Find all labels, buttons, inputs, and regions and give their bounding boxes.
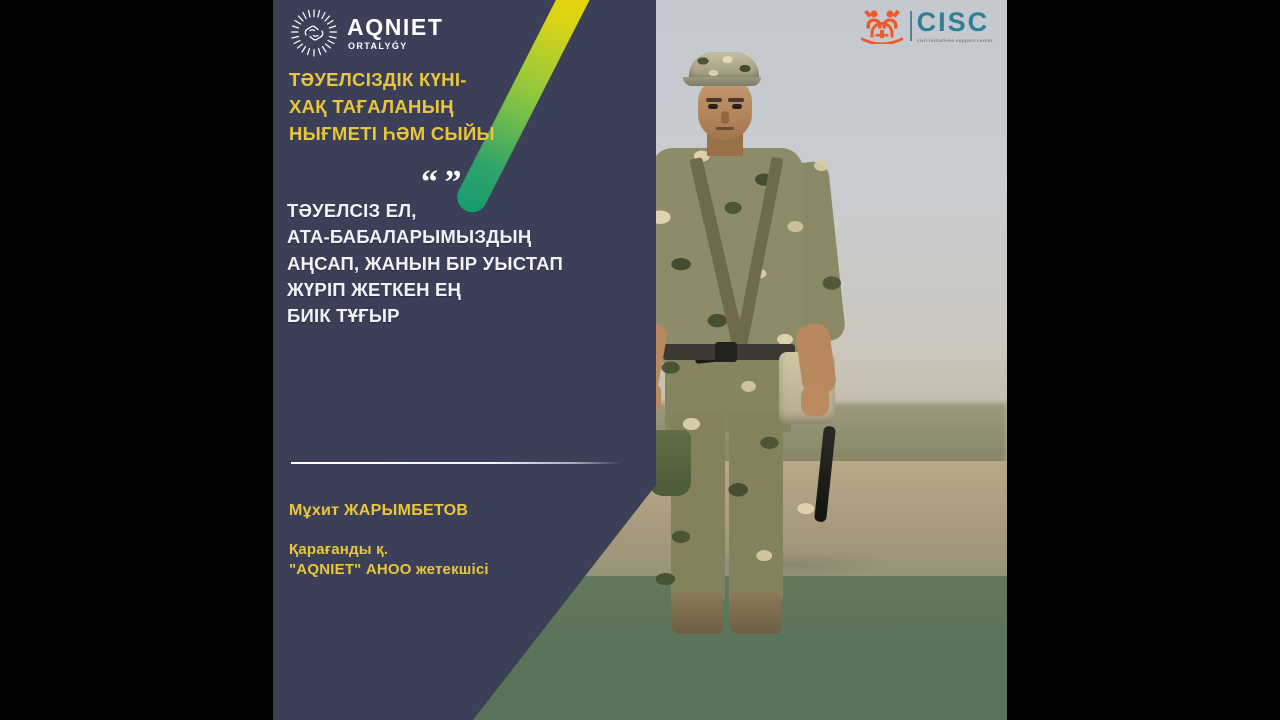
- cap-camouflage: [689, 52, 759, 82]
- mouth: [716, 127, 734, 130]
- slide-title: ТӘУЕЛСІЗДІК КҮНІ- ХАҚ ТАҒАЛАНЫҢ НЫҒМЕТІ …: [289, 66, 619, 148]
- partner-name: CISC: [917, 9, 993, 36]
- cisc-logo: CISC civil initiatives support center: [859, 8, 993, 44]
- aqniet-logo-text: AQNIET ORTALYǴY: [347, 16, 444, 51]
- quote-line-3: АҢСАП, ЖАНЫН БІР УЫСТАП: [287, 251, 647, 277]
- quote-text: ТӘУЕЛСІЗ ЕЛ, АТА-БАБАЛАРЫМЫЗДЫҢ АҢСАП, Ж…: [287, 198, 647, 329]
- soldier-torso: [651, 148, 803, 363]
- quote-line-1: ТӘУЕЛСІЗ ЕЛ,: [287, 198, 647, 224]
- horizontal-divider: [291, 462, 621, 464]
- quote-line-4: ЖҮРІП ЖЕТКЕН ЕҢ: [287, 277, 647, 303]
- baton: [814, 426, 836, 523]
- eye: [732, 104, 742, 109]
- quote-line-2: АТА-БАБАЛАРЫМЫЗДЫҢ: [287, 224, 647, 250]
- cisc-people-arch-icon: [859, 8, 905, 44]
- presentation-slide: AQNIET ORTALYǴY ТӘУЕЛСІЗДІК КҮНІ- ХАҚ ТА…: [273, 0, 1007, 720]
- belt-buckle: [715, 342, 737, 362]
- soldier-boot: [729, 592, 781, 634]
- eye: [708, 104, 718, 109]
- eyebrow: [728, 98, 744, 102]
- sunburst-clasped-hands-icon: [289, 8, 339, 58]
- org-line-2: "AQNIET" АНОО жетекшісі: [289, 560, 489, 580]
- brand-subtitle: ORTALYǴY: [348, 42, 444, 51]
- partner-tagline: civil initiatives support center: [917, 39, 993, 44]
- cisc-logo-text: CISC civil initiatives support center: [917, 9, 993, 44]
- title-line-2: ХАҚ ТАҒАЛАНЫҢ: [289, 93, 619, 120]
- aqniet-logo: AQNIET ORTALYǴY: [289, 8, 444, 58]
- quote-line-5: БИІК ТҰҒЫР: [287, 303, 647, 329]
- org-line-1: Қарағанды қ.: [289, 540, 489, 560]
- letterbox-bar-right: [1007, 0, 1280, 720]
- title-line-1: ТӘУЕЛСІЗДІК КҮНІ-: [289, 66, 619, 93]
- letterbox-bar-left: [0, 0, 273, 720]
- soldier-leg: [729, 412, 783, 602]
- soldier-hand: [801, 386, 829, 416]
- screenshot-canvas: AQNIET ORTALYǴY ТӘУЕЛСІЗДІК КҮНІ- ХАҚ ТА…: [0, 0, 1280, 720]
- brand-name: AQNIET: [347, 16, 444, 39]
- cisc-divider-rule: [910, 11, 912, 41]
- eyebrow: [706, 98, 722, 102]
- soldier-face: [698, 78, 752, 140]
- author-name: Мұхит ЖАРЫМБЕТОВ: [289, 502, 468, 520]
- quotation-mark-icon: “ ”: [421, 166, 461, 200]
- soldier-boot: [671, 592, 723, 634]
- nose: [721, 111, 729, 124]
- author-organization: Қарағанды қ. "AQNIET" АНОО жетекшісі: [289, 540, 489, 580]
- title-line-3: НЫҒМЕТІ ҺӘМ СЫЙЫ: [289, 120, 619, 147]
